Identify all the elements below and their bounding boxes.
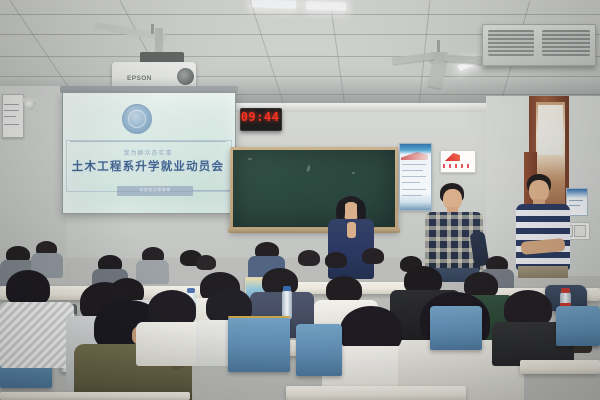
man-striped-trousers bbox=[518, 266, 568, 278]
door-window-glass bbox=[538, 105, 563, 155]
air-conditioner-vent bbox=[488, 30, 534, 56]
student-head bbox=[262, 268, 298, 295]
air-conditioner-vent bbox=[542, 30, 590, 56]
sign-text-row bbox=[443, 164, 471, 168]
desk-front bbox=[0, 392, 190, 400]
red-swoosh-sign bbox=[440, 150, 476, 173]
poster-text-line bbox=[402, 170, 423, 171]
poster-text-line bbox=[402, 164, 426, 165]
slide-title: 土木工程系升学就业动员会 bbox=[62, 158, 234, 174]
chalk-tray bbox=[228, 228, 400, 233]
desk-front bbox=[520, 360, 600, 374]
ceiling-grid-line bbox=[0, 14, 600, 15]
ceiling-grid-line bbox=[0, 76, 600, 77]
chair-back[interactable] bbox=[228, 316, 290, 372]
ceiling-light-panel bbox=[252, 0, 296, 9]
ceiling-fan-rod bbox=[151, 24, 154, 34]
chair-back[interactable] bbox=[430, 306, 482, 350]
poster-text-line bbox=[402, 189, 426, 190]
poster-text-line bbox=[402, 182, 420, 183]
notice-text-line bbox=[4, 124, 19, 125]
ceiling-light-panel bbox=[306, 1, 346, 10]
projector-drop-pole bbox=[155, 28, 163, 54]
student-head bbox=[325, 252, 347, 268]
sign-text-line bbox=[569, 205, 580, 206]
speaker-woman-neckline bbox=[347, 222, 356, 238]
bottle-cap bbox=[561, 288, 570, 293]
bottle-cap bbox=[187, 288, 195, 293]
student-head bbox=[326, 276, 362, 303]
student-head bbox=[196, 255, 216, 270]
slide-subtitle: 我为群众办实事 bbox=[62, 148, 234, 157]
man-striped-polo bbox=[516, 204, 570, 270]
poster-text-line bbox=[402, 195, 422, 196]
blackboard bbox=[233, 150, 395, 227]
university-emblem-ring bbox=[128, 110, 146, 128]
slide-footer-text: 动员会日程安排 bbox=[117, 187, 193, 193]
slide-footer-rule bbox=[192, 190, 234, 191]
light-switch-button[interactable] bbox=[574, 225, 586, 237]
clock-display: 09:44 bbox=[240, 110, 280, 124]
notice-text-line bbox=[4, 104, 19, 105]
student-head bbox=[298, 250, 320, 266]
bottle-cap bbox=[283, 286, 291, 291]
desk-front bbox=[286, 386, 466, 400]
student-head bbox=[362, 248, 384, 264]
student-head bbox=[6, 270, 50, 306]
notice-text-line bbox=[4, 110, 19, 111]
notice-text-line bbox=[4, 116, 16, 117]
chair-trim bbox=[228, 316, 290, 318]
chair-back[interactable] bbox=[296, 324, 342, 376]
poster-text-line bbox=[402, 176, 426, 177]
sign-text-line bbox=[569, 200, 583, 201]
chalk-mark bbox=[248, 158, 252, 160]
chair-back[interactable] bbox=[556, 306, 600, 346]
student-torso bbox=[136, 260, 169, 284]
classroom-photo: EPSON 我为群众办实事 土木工程系升学就业动员会 动员会日程安排 09:44 bbox=[0, 0, 600, 400]
student-patterned-shirt bbox=[0, 302, 74, 368]
chalk-mark bbox=[352, 172, 355, 174]
